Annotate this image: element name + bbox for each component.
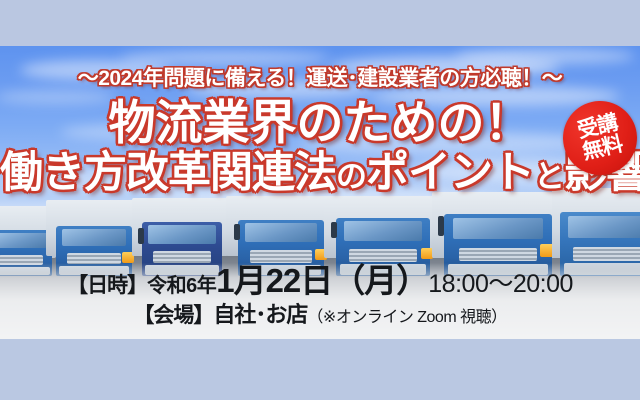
letterbox-bottom	[0, 339, 640, 400]
truck-windshield	[453, 218, 544, 239]
truck-grille	[573, 247, 640, 261]
title-line2-main: 働き方改革関連法	[0, 149, 336, 197]
truck-windshield	[344, 221, 423, 241]
seminar-banner: 〜2024年問題に備える！運送･建設業者の方必聴！〜 物流業界のための！ 働き方…	[0, 0, 640, 400]
letterbox-top	[0, 0, 640, 46]
truck-mirror	[331, 222, 337, 238]
truck-mirror	[234, 224, 240, 240]
banner-subtitle: 〜2024年問題に備える！運送･建設業者の方必聴！〜	[0, 62, 640, 92]
banner-title-line2: 働き方改革関連法のポイントと影響	[0, 150, 640, 196]
title-line2-tail: ポイント	[366, 149, 534, 197]
truck-windshield	[62, 229, 126, 246]
truck-windshield	[0, 233, 47, 249]
venue-row: 【会場】自社･お店（※オンライン Zoom 視聴）	[0, 304, 640, 326]
truck-windshield	[148, 225, 215, 243]
truck-grille	[459, 248, 537, 262]
title-line2-conj: と	[534, 159, 564, 194]
venue-value: 自社･お店	[213, 302, 307, 327]
truck-windshield	[568, 216, 640, 238]
datetime-row: 【日時】令和6年1月22日（月）18:00〜20:00	[0, 264, 640, 297]
truck-grille	[349, 249, 417, 262]
truck-windshield	[245, 223, 317, 242]
banner-title-line1: 物流業界のための！	[0, 98, 640, 148]
truck-grille	[153, 251, 211, 263]
title-line2-particle: の	[336, 159, 366, 194]
truck-mirror	[138, 228, 144, 244]
event-date: 1月22日（月）	[216, 262, 428, 299]
venue-note: （※オンライン Zoom 視聴）	[307, 309, 506, 326]
event-details: 【日時】令和6年1月22日（月）18:00〜20:00 【会場】自社･お店（※オ…	[0, 264, 640, 326]
datetime-label: 【日時】	[67, 274, 147, 297]
truck-mirror	[438, 216, 444, 236]
event-time-range: 18:00〜20:00	[428, 270, 573, 298]
truck-grille	[250, 250, 312, 262]
headline-block: 〜2024年問題に備える！運送･建設業者の方必聴！〜 物流業界のための！ 働き方…	[0, 46, 640, 196]
venue-label: 【会場】	[133, 304, 213, 327]
era-year: 令和6年	[147, 275, 216, 297]
